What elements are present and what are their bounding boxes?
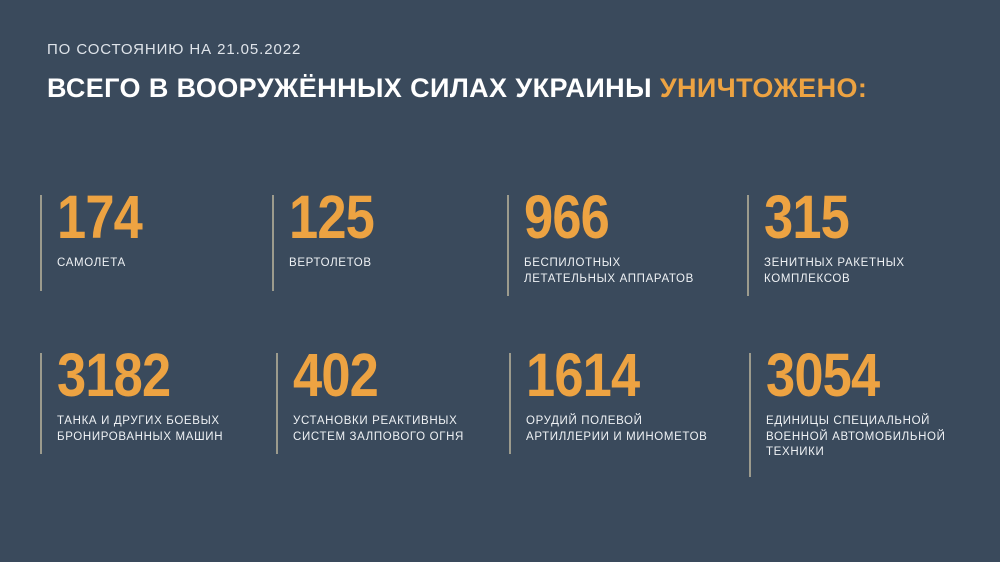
stat-value: 3054 [766,344,941,406]
stat-value: 315 [764,186,941,248]
stat-value: 1614 [526,344,718,406]
stat-item: 3182 ТАНКА И ДРУГИХ БОЕВЫХ БРОНИРОВАННЫХ… [40,344,276,445]
stat-label: ЕДИНИЦЫ СПЕЦИАЛЬНОЙ ВОЕННОЙ АВТОМОБИЛЬНО… [766,414,970,461]
stat-value: 125 [289,186,476,248]
stat-value: 402 [293,344,479,406]
column-divider [749,353,751,477]
stat-value: 174 [57,186,242,248]
stat-item: 125 ВЕРТОЛЕТОВ [272,186,507,272]
stats-row-2: 3182 ТАНКА И ДРУГИХ БОЕВЫХ БРОНИРОВАННЫХ… [40,344,970,461]
column-divider [507,195,509,296]
stat-value: 966 [524,186,716,248]
stat-label: ВЕРТОЛЕТОВ [289,256,507,272]
stat-item: 1614 ОРУДИЙ ПОЛЕВОЙ АРТИЛЛЕРИИ И МИНОМЕТ… [509,344,749,445]
column-divider [276,353,278,454]
stat-label: ТАНКА И ДРУГИХ БОЕВЫХ БРОНИРОВАННЫХ МАШИ… [57,414,276,445]
stat-item: 315 ЗЕНИТНЫХ РАКЕТНЫХ КОМПЛЕКСОВ [747,186,970,287]
page-title-accent: УНИЧТОЖЕНО: [660,73,867,103]
header: ПО СОСТОЯНИЮ НА 21.05.2022 ВСЕГО В ВООРУ… [47,40,967,104]
stat-label: БЕСПИЛОТНЫХ ЛЕТАТЕЛЬНЫХ АППАРАТОВ [524,256,747,287]
stat-label: ЗЕНИТНЫХ РАКЕТНЫХ КОМПЛЕКСОВ [764,256,970,287]
stats-row-1: 174 САМОЛЕТА 125 ВЕРТОЛЕТОВ 966 БЕСПИЛОТ… [40,186,970,287]
stat-item: 174 САМОЛЕТА [40,186,272,272]
stat-item: 3054 ЕДИНИЦЫ СПЕЦИАЛЬНОЙ ВОЕННОЙ АВТОМОБ… [749,344,970,461]
column-divider [40,353,42,454]
stats-grid: 174 САМОЛЕТА 125 ВЕРТОЛЕТОВ 966 БЕСПИЛОТ… [40,186,970,461]
column-divider [747,195,749,296]
stat-label: УСТАНОВКИ РЕАКТИВНЫХ СИСТЕМ ЗАЛПОВОГО ОГ… [293,414,509,445]
column-divider [40,195,42,291]
report-date: ПО СОСТОЯНИЮ НА 21.05.2022 [47,40,967,60]
infographic-root: ПО СОСТОЯНИЮ НА 21.05.2022 ВСЕГО В ВООРУ… [0,0,1000,562]
page-title: ВСЕГО В ВООРУЖЁННЫХ СИЛАХ УКРАИНЫ УНИЧТО… [47,72,967,104]
stat-item: 966 БЕСПИЛОТНЫХ ЛЕТАТЕЛЬНЫХ АППАРАТОВ [507,186,747,287]
stat-label: ОРУДИЙ ПОЛЕВОЙ АРТИЛЛЕРИИ И МИНОМЕТОВ [526,414,749,445]
column-divider [509,353,511,454]
stat-item: 402 УСТАНОВКИ РЕАКТИВНЫХ СИСТЕМ ЗАЛПОВОГ… [276,344,509,445]
page-title-main: ВСЕГО В ВООРУЖЁННЫХ СИЛАХ УКРАИНЫ [47,73,652,103]
column-divider [272,195,274,291]
stat-value: 3182 [57,344,245,406]
stat-label: САМОЛЕТА [57,256,272,272]
